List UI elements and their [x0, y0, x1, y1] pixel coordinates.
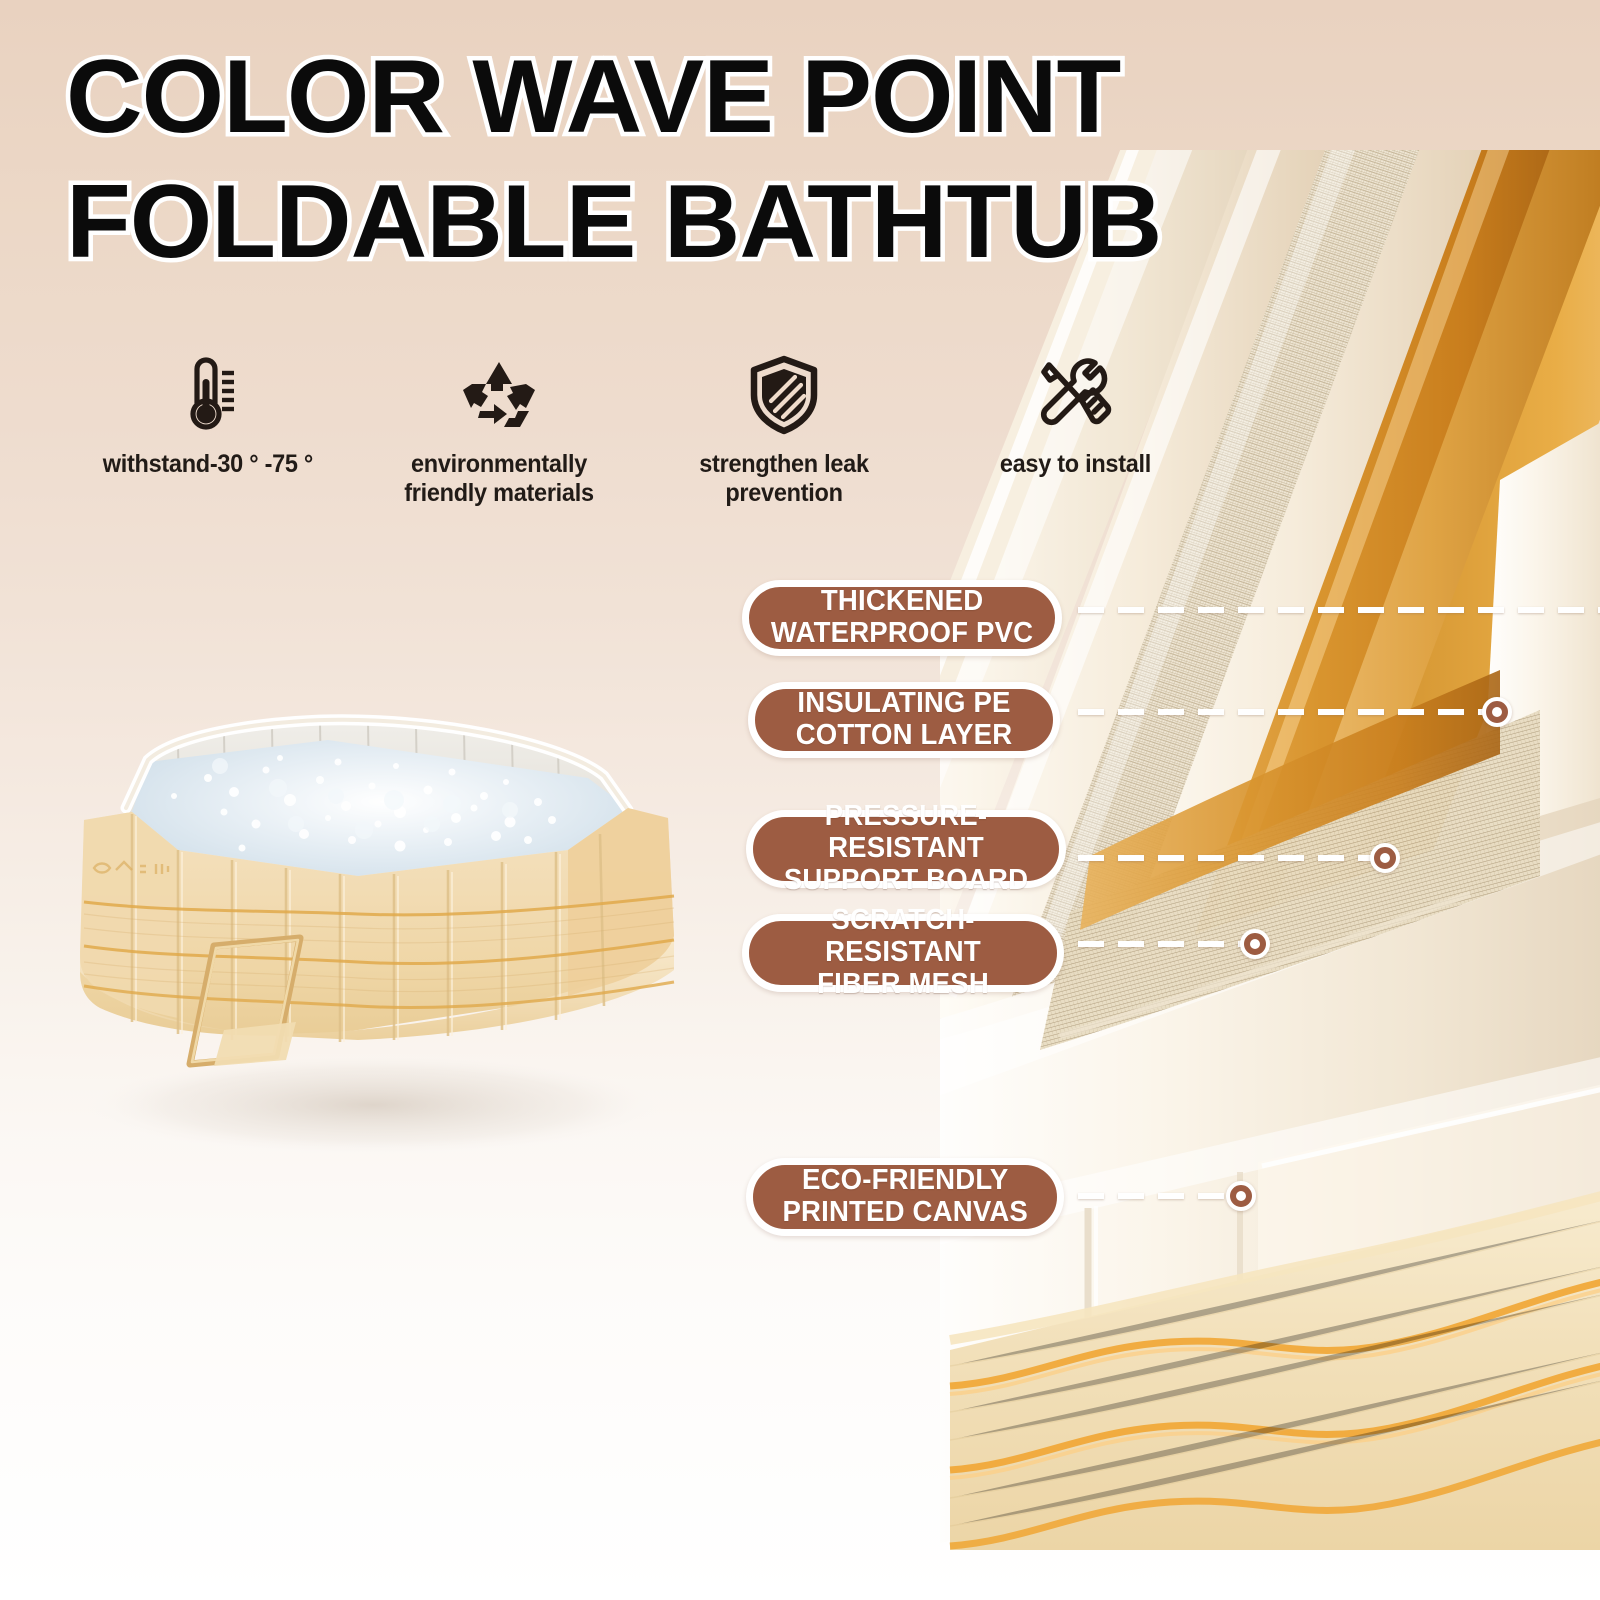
- feature-easy-install: easy to install: [960, 352, 1190, 479]
- tools-icon: [1035, 352, 1115, 438]
- recycle-icon: [460, 352, 538, 438]
- connector-dot-3: [1370, 843, 1400, 873]
- callout-eco-friendly-printed-canvas[interactable]: ECO-FRIENDLY PRINTED CANVAS: [746, 1158, 1064, 1236]
- thermometer-icon: [177, 352, 239, 438]
- feature-label: strengthen leak prevention: [673, 450, 895, 507]
- callout-thickened-waterproof-pvc[interactable]: THICKENED WATERPROOF PVC: [742, 580, 1062, 656]
- title-line-1: COLOR WAVE POINT: [66, 46, 1392, 149]
- callout-insulating-pe-cotton-layer[interactable]: INSULATING PE COTTON LAYER: [748, 682, 1060, 758]
- callout-label: ECO-FRIENDLY PRINTED CANVAS: [782, 1165, 1028, 1229]
- callout-label: INSULATING PE COTTON LAYER: [796, 688, 1013, 752]
- callout-scratch-resistant-fiber-mesh[interactable]: SCRATCH-RESISTANT FIBER MESH: [742, 914, 1064, 992]
- callout-label: THICKENED WATERPROOF PVC: [771, 586, 1033, 650]
- leader-line-4: [1078, 941, 1248, 947]
- shield-icon: [749, 352, 819, 438]
- feature-label: environmentally friendly materials: [382, 450, 617, 507]
- feature-badge-row: withstand-30 ° -75 ° environmentally fri…: [60, 352, 1220, 522]
- feature-withstand-temperature: withstand-30 ° -75 °: [60, 352, 356, 479]
- leader-line-3: [1078, 855, 1378, 861]
- bathtub-product-photo: [28, 700, 728, 1180]
- feature-leak-prevention: strengthen leak prevention: [666, 352, 902, 507]
- connector-dot-4: [1240, 929, 1270, 959]
- leader-line-1: [1078, 607, 1600, 613]
- feature-label: easy to install: [999, 450, 1150, 479]
- feature-eco-materials: environmentally friendly materials: [374, 352, 624, 507]
- connector-dot-2: [1482, 697, 1512, 727]
- poster-title: COLOR WAVE POINT FOLDABLE BATHTUB: [66, 46, 1366, 274]
- feature-label: withstand-30 ° -75 °: [103, 450, 313, 479]
- title-line-2: FOLDABLE BATHTUB: [66, 171, 1392, 274]
- callout-label: PRESSURE-RESISTANT SUPPORT BOARD: [761, 801, 1052, 897]
- leader-line-5: [1078, 1193, 1233, 1199]
- callout-pressure-resistant-support-board[interactable]: PRESSURE-RESISTANT SUPPORT BOARD: [746, 810, 1066, 888]
- connector-dot-5: [1226, 1181, 1256, 1211]
- leader-line-2: [1078, 709, 1488, 715]
- callout-label: SCRATCH-RESISTANT FIBER MESH: [757, 905, 1050, 1001]
- product-infographic-poster: COLOR WAVE POINT FOLDABLE BATHTUB: [0, 0, 1600, 1600]
